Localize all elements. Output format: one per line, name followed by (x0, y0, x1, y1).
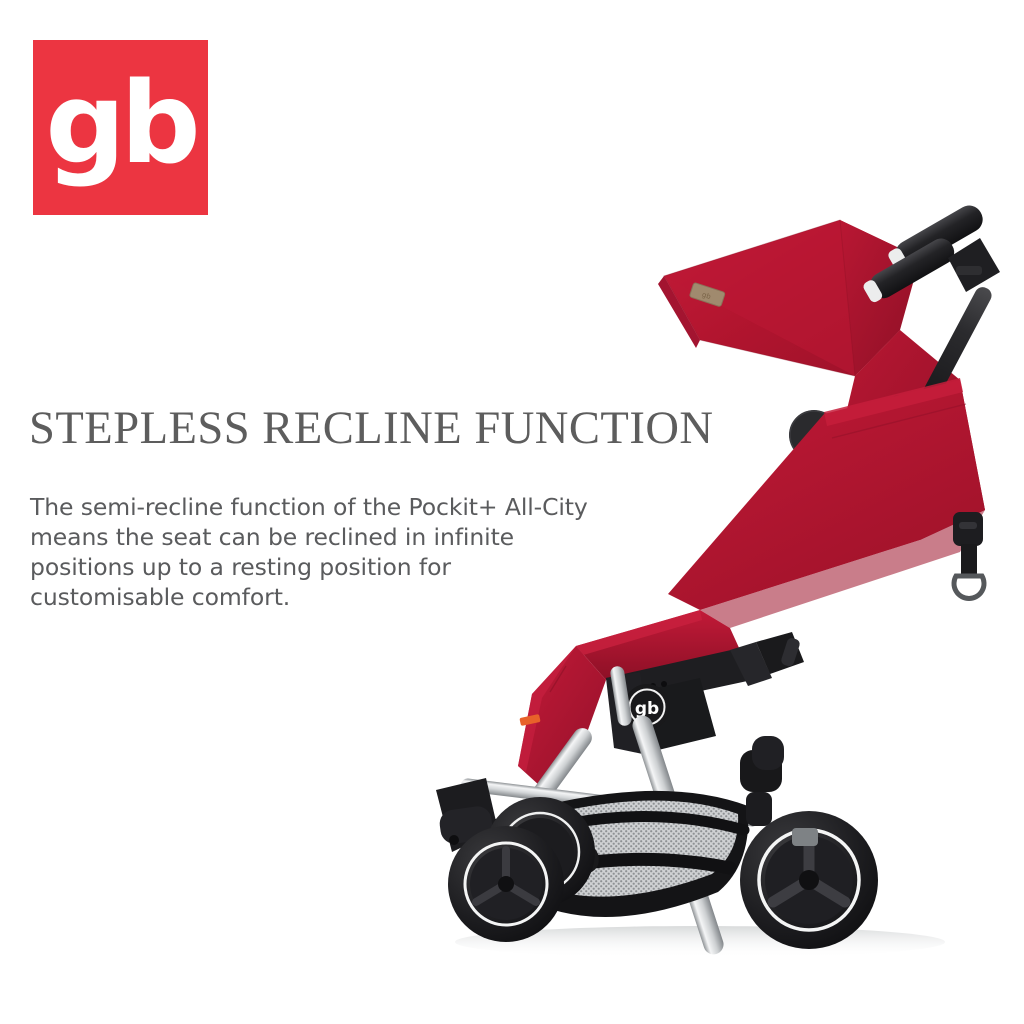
rear-wheel (740, 811, 878, 949)
carry-strap-d-ring (953, 512, 984, 598)
gb-logo-wordmark: gb (33, 68, 208, 188)
product-marketing-slide: gb STEPLESS RECLINE FUNCTION The semi-re… (0, 0, 1024, 1024)
seat-back (668, 378, 985, 628)
hub-badge-text: gb (635, 699, 659, 719)
rear-brake-housing (740, 736, 784, 826)
gb-brand-logo: gb (33, 40, 208, 215)
product-image-stroller: gb (400, 180, 1024, 980)
